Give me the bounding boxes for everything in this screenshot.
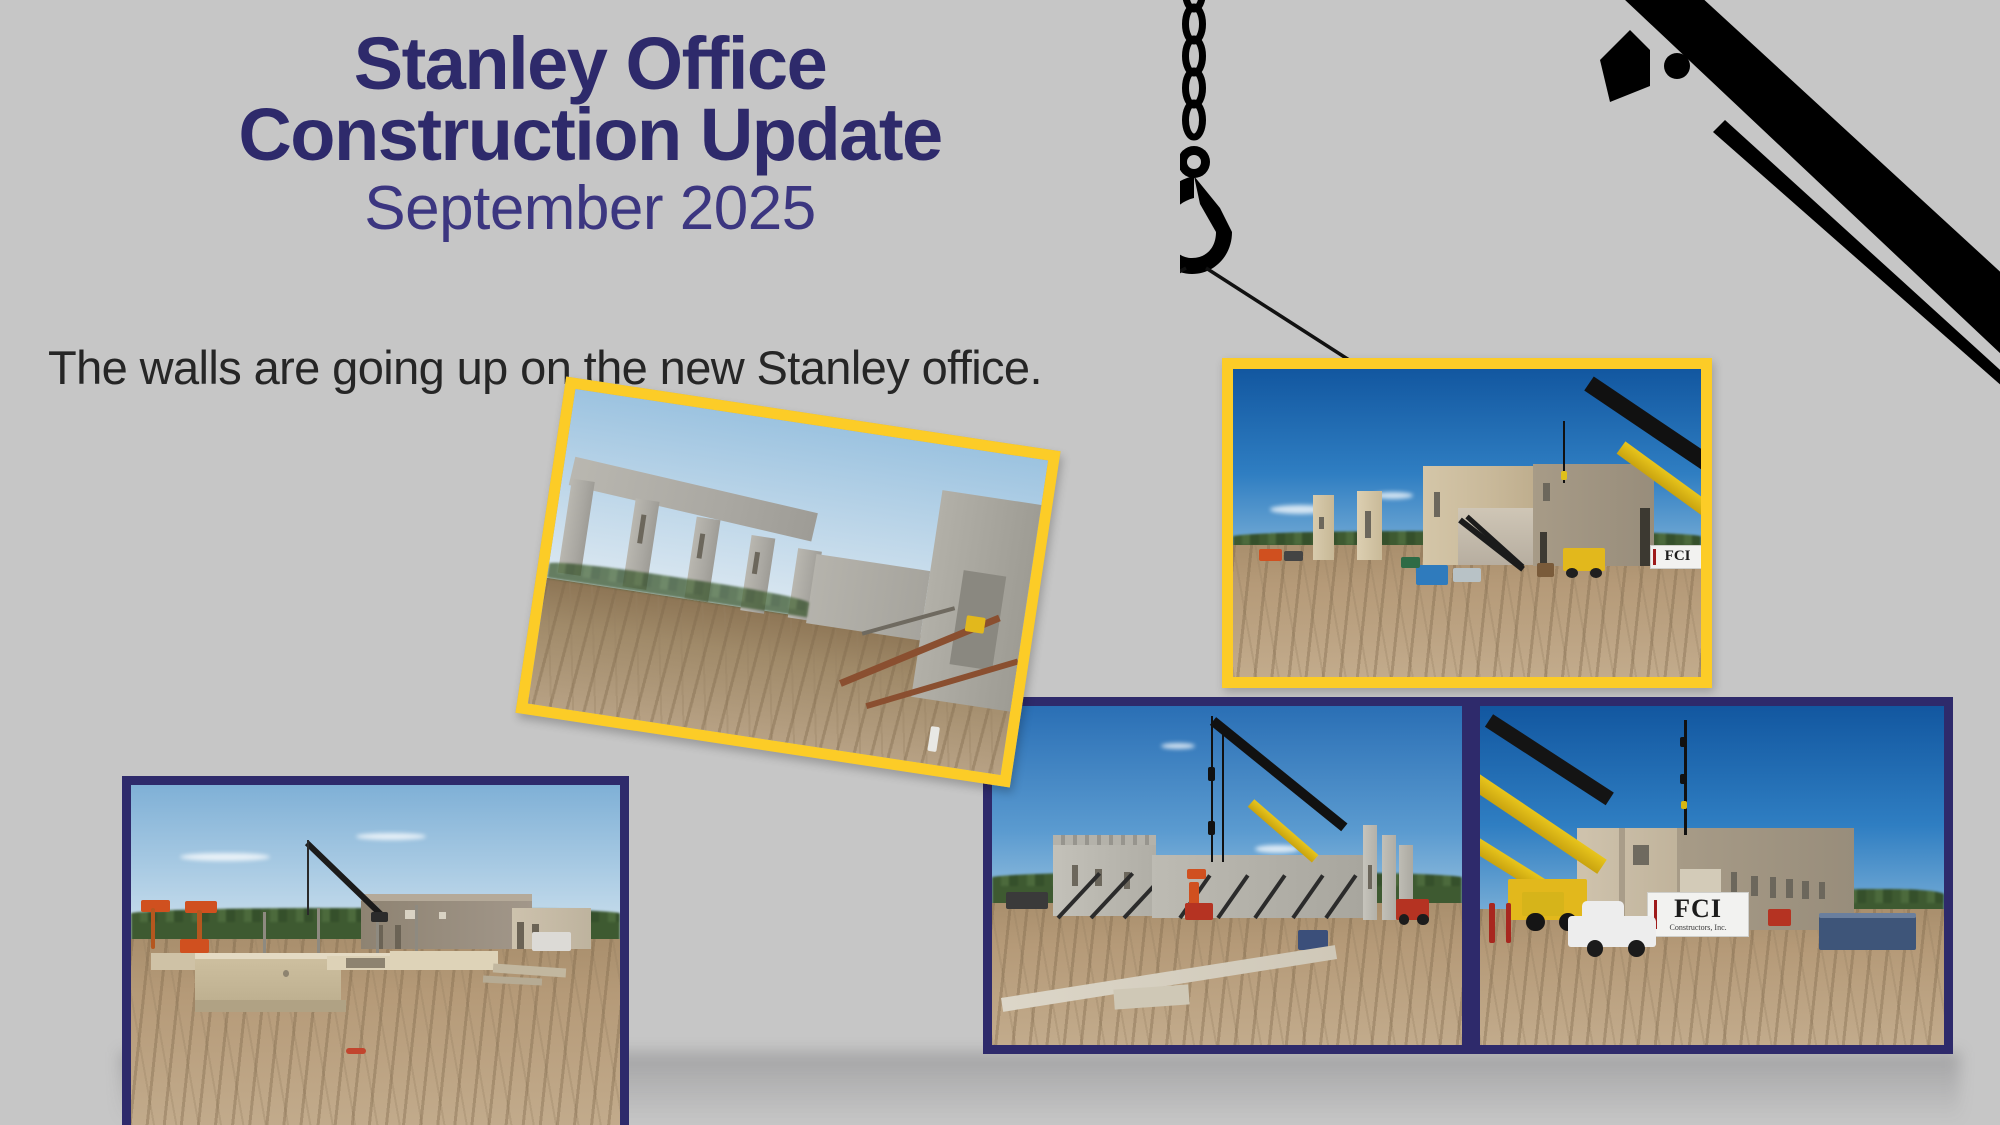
photo-tiltup-rotated[interactable] — [515, 377, 1060, 788]
photo-foundation[interactable] — [122, 776, 629, 1125]
body-caption: The walls are going up on the new Stanle… — [48, 340, 1042, 395]
photo-corner-walls[interactable]: FCI — [1222, 358, 1712, 688]
photo-fci-truck[interactable]: FCI Constructors, Inc. — [1471, 697, 1953, 1054]
title-line-2: Construction Update — [0, 99, 1180, 170]
fci-logo-text: FCI — [1665, 549, 1691, 564]
crane-hook-icon — [1180, 0, 1232, 274]
page-title: Stanley Office Construction Update Septe… — [0, 28, 1180, 244]
fci-logo-subtext: Constructors, Inc. — [1670, 924, 1727, 932]
fci-logo-text: FCI — [1674, 896, 1722, 922]
photo-long-wall[interactable] — [983, 697, 1471, 1054]
title-subtitle-date: September 2025 — [0, 174, 1180, 243]
slide-canvas: Stanley Office Construction Update Septe… — [0, 0, 2000, 1125]
crane-boom-icon — [1572, 0, 2000, 402]
fci-trailer: FCI Constructors, Inc. — [1647, 892, 1749, 936]
crane-graphic — [1180, 0, 2000, 410]
title-line-1: Stanley Office — [0, 28, 1180, 99]
